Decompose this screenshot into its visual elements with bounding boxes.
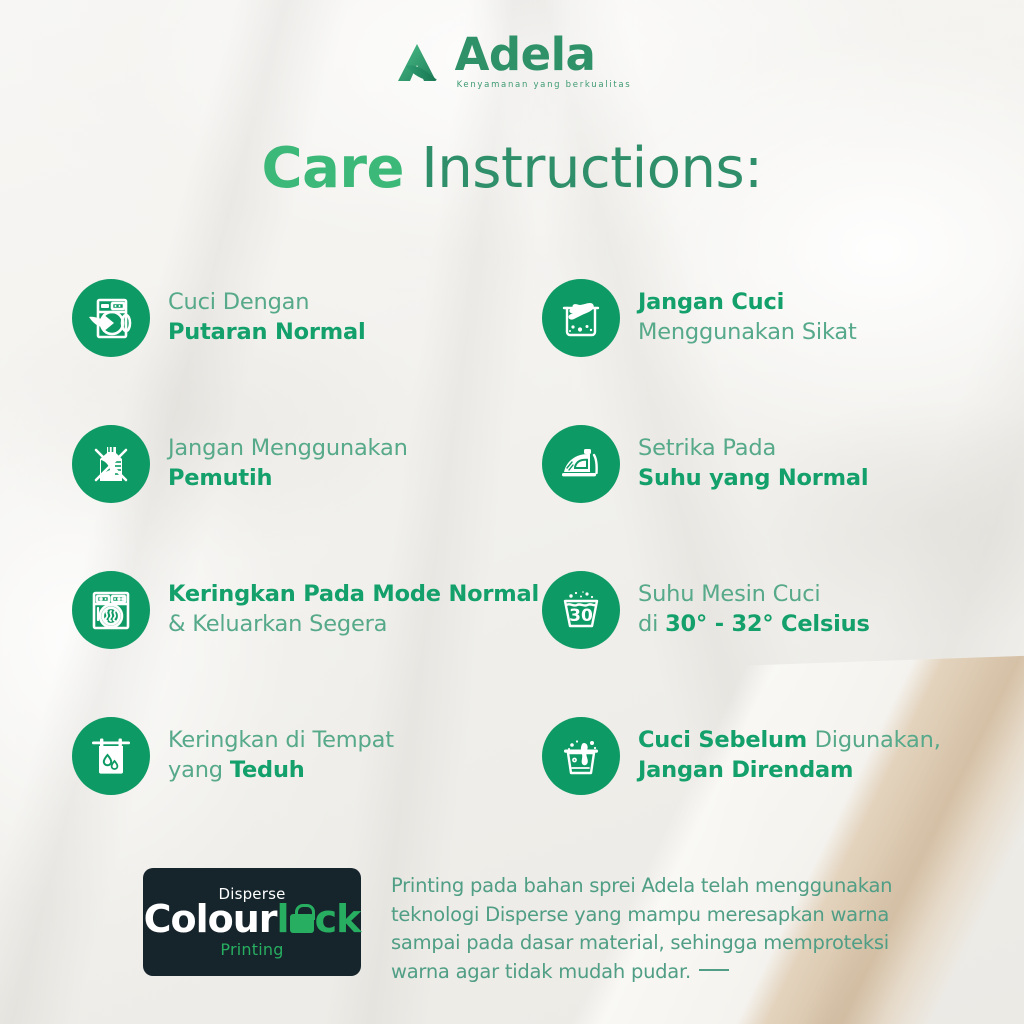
care-item-text: Jangan Menggunakan Pemutih (168, 434, 408, 494)
footer-line-2: teknologi Disperse yang mampu meresapkan… (391, 901, 892, 930)
care-item-line-1-light: Digunakan, (815, 727, 941, 753)
padlock-icon (289, 904, 315, 934)
badge-lock-letters-ck: ck (315, 900, 361, 940)
badge-word-colour: Colour (144, 900, 277, 940)
badge-main-label: Colourlck (144, 900, 361, 940)
footer-line-3: sampai pada dasar material, sehingga mem… (391, 929, 892, 958)
care-item-no-bleach: Jangan Menggunakan Pemutih (72, 391, 542, 537)
care-item-line-1: Cuci Sebelum Digunakan, (638, 726, 941, 756)
no-brush-hand-wash-icon (542, 279, 620, 357)
wash-before-use-no-soak-icon (542, 717, 620, 795)
care-item-line-1: Cuci Dengan (168, 288, 366, 318)
no-bleach-icon (72, 425, 150, 503)
care-item-text: Cuci Sebelum Digunakan, Jangan Direndam (638, 726, 941, 786)
footer-line-4-wrap: warna agar tidak mudah pudar. (391, 958, 892, 987)
care-item-line-2: Suhu yang Normal (638, 464, 868, 494)
care-item-text: Keringkan di Tempat yang Teduh (168, 726, 394, 786)
svg-text:30: 30 (569, 606, 593, 626)
care-item-line-2-value: 30° - 32° Celsius (665, 611, 870, 637)
care-item-wash-temperature-30: 30 Suhu Mesin Cuci di 30° - 32° Celsius (542, 537, 972, 683)
care-item-line-1-bold: Cuci Sebelum (638, 727, 815, 753)
care-item-tumble-dry-normal: Keringkan Pada Mode Normal & Keluarkan S… (72, 537, 542, 683)
adela-mountain-logo-icon (393, 36, 445, 88)
care-item-wash-before-use: Cuci Sebelum Digunakan, Jangan Direndam (542, 683, 972, 829)
page-title: Care Instructions: (0, 138, 1024, 200)
care-instructions-grid: Cuci Dengan Putaran Normal (72, 245, 972, 829)
care-item-line-1: Suhu Mesin Cuci (638, 580, 870, 610)
care-item-text: Suhu Mesin Cuci di 30° - 32° Celsius (638, 580, 870, 640)
care-item-drip-dry-shade: Keringkan di Tempat yang Teduh (72, 683, 542, 829)
wash-temperature-30-icon: 30 (542, 571, 620, 649)
care-item-line-2: Pemutih (168, 464, 408, 494)
footer-description: Printing pada bahan sprei Adela telah me… (391, 868, 892, 987)
care-item-line-2-prefix: yang (168, 757, 230, 783)
iron-normal-temperature-icon (542, 425, 620, 503)
care-item-line-2: Putaran Normal (168, 318, 366, 348)
page-title-bold: Care (261, 136, 403, 201)
care-item-wash-normal-cycle: Cuci Dengan Putaran Normal (72, 245, 542, 391)
brand-name: Adela (455, 34, 596, 77)
care-instructions-poster: Adela Kenyamanan yang berkualitas Care I… (0, 0, 1024, 1024)
disperse-colourlock-badge: Disperse Colourlck Printing (143, 868, 361, 976)
care-item-line-2: Jangan Direndam (638, 756, 941, 786)
care-item-line-2-prefix: di (638, 611, 665, 637)
page-title-light: Instructions: (421, 136, 762, 201)
badge-lock-letter-l: l (277, 900, 289, 940)
care-item-iron-normal-temp: Setrika Pada Suhu yang Normal (542, 391, 972, 537)
care-item-line-2-value: Teduh (230, 757, 305, 783)
tumble-dry-normal-icon (72, 571, 150, 649)
care-item-text: Setrika Pada Suhu yang Normal (638, 434, 868, 494)
brand-tagline: Kenyamanan yang berkualitas (457, 80, 632, 90)
washing-machine-normal-cycle-icon (72, 279, 150, 357)
footer-line-1: Printing pada bahan sprei Adela telah me… (391, 872, 892, 901)
care-item-text: Keringkan Pada Mode Normal & Keluarkan S… (168, 580, 539, 640)
care-item-line-2: di 30° - 32° Celsius (638, 610, 870, 640)
care-item-no-brush-wash: Jangan Cuci Menggunakan Sikat (542, 245, 972, 391)
drip-dry-shade-icon (72, 717, 150, 795)
care-item-line-2: & Keluarkan Segera (168, 610, 539, 640)
badge-bottom-label: Printing (220, 940, 283, 959)
footer-dash (699, 969, 729, 971)
care-item-text: Cuci Dengan Putaran Normal (168, 288, 366, 348)
care-item-line-1: Setrika Pada (638, 434, 868, 464)
footer-line-4: warna agar tidak mudah pudar. (391, 960, 691, 983)
care-item-line-2: Menggunakan Sikat (638, 318, 857, 348)
care-item-text: Jangan Cuci Menggunakan Sikat (638, 288, 857, 348)
brand-header: Adela Kenyamanan yang berkualitas (0, 34, 1024, 90)
care-item-line-1: Keringkan di Tempat (168, 726, 394, 756)
care-item-line-1: Keringkan Pada Mode Normal (168, 580, 539, 610)
care-item-line-2: yang Teduh (168, 756, 394, 786)
footer: Disperse Colourlck Printing Printing pad… (143, 868, 964, 987)
care-item-line-1: Jangan Cuci (638, 288, 857, 318)
care-item-line-1: Jangan Menggunakan (168, 434, 408, 464)
